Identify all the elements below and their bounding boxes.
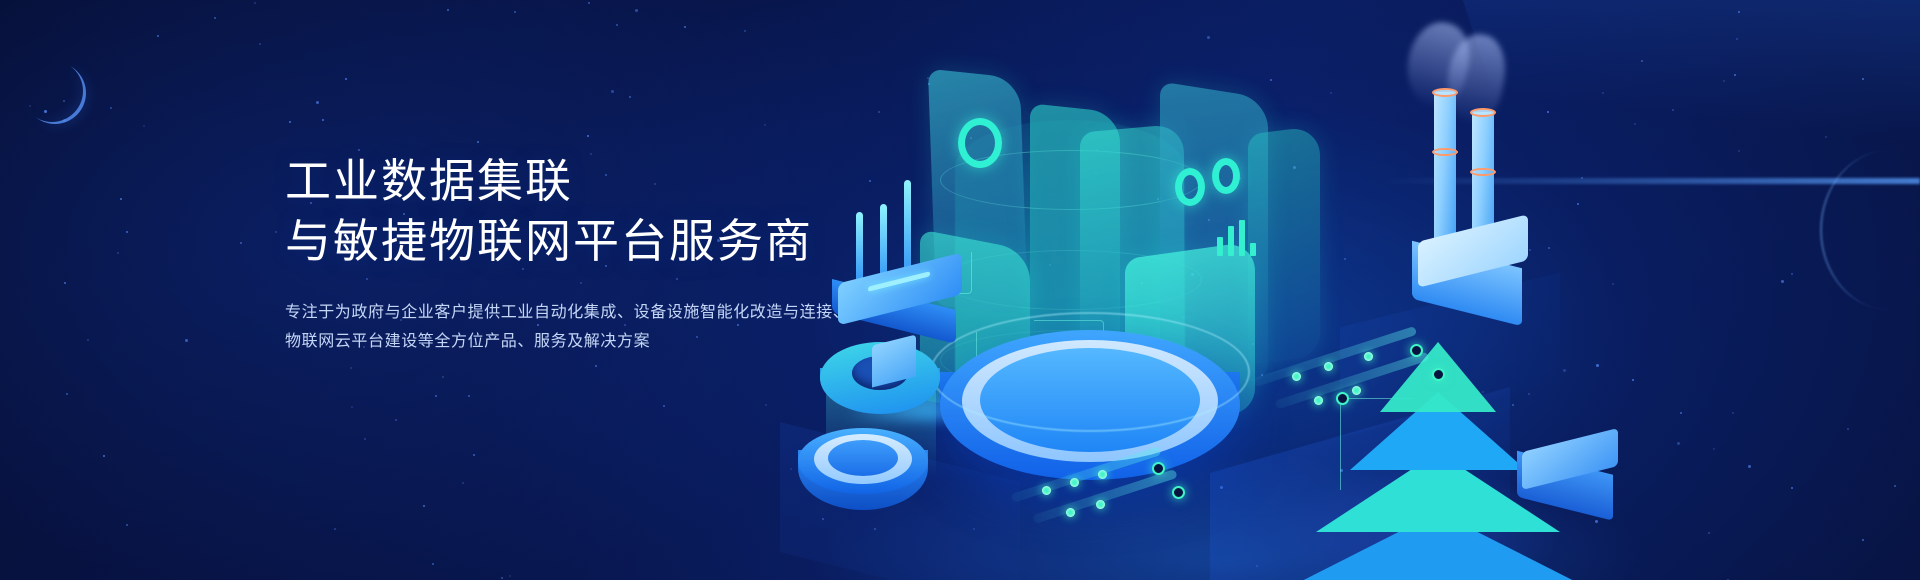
platform-halo [930, 312, 1250, 432]
glow-dot-4 [1066, 508, 1075, 517]
glow-dot-2 [1070, 478, 1079, 487]
glow-dot-5 [1096, 500, 1105, 509]
mini-platform-core [828, 440, 898, 476]
chimney-cap-2 [1470, 108, 1496, 117]
glow-dot-6 [1292, 372, 1301, 381]
glow-dot-8 [1364, 352, 1373, 361]
ring-glyph-icon-3 [1212, 158, 1240, 194]
glow-dot-9 [1314, 396, 1323, 405]
data-node-3 [1410, 344, 1423, 357]
isometric-illustration [780, 0, 1920, 580]
headline-line-1: 工业数据集联 [285, 155, 573, 207]
glow-dot-1 [1042, 486, 1051, 495]
chimney-band-1 [1432, 148, 1458, 156]
ring-glyph-icon-1 [958, 118, 1002, 168]
ring-glyph-icon-2 [1175, 168, 1205, 206]
glow-dot-10 [1352, 386, 1361, 395]
glow-dot-7 [1324, 362, 1333, 371]
data-node-2 [1172, 486, 1185, 499]
bar-chart-glyph-icon [1217, 220, 1263, 256]
glow-dot-3 [1098, 470, 1107, 479]
data-node-5 [1336, 392, 1349, 405]
hero-banner: 工业数据集联 与敏捷物联网平台服务商 专注于为政府与企业客户提供工业自动化集成、… [0, 0, 1920, 580]
data-node-1 [1152, 462, 1165, 475]
crescent-moon-icon [24, 62, 86, 124]
chimney-cap-1 [1432, 88, 1458, 97]
chimney-band-2 [1470, 168, 1496, 176]
data-node-4 [1432, 368, 1445, 381]
